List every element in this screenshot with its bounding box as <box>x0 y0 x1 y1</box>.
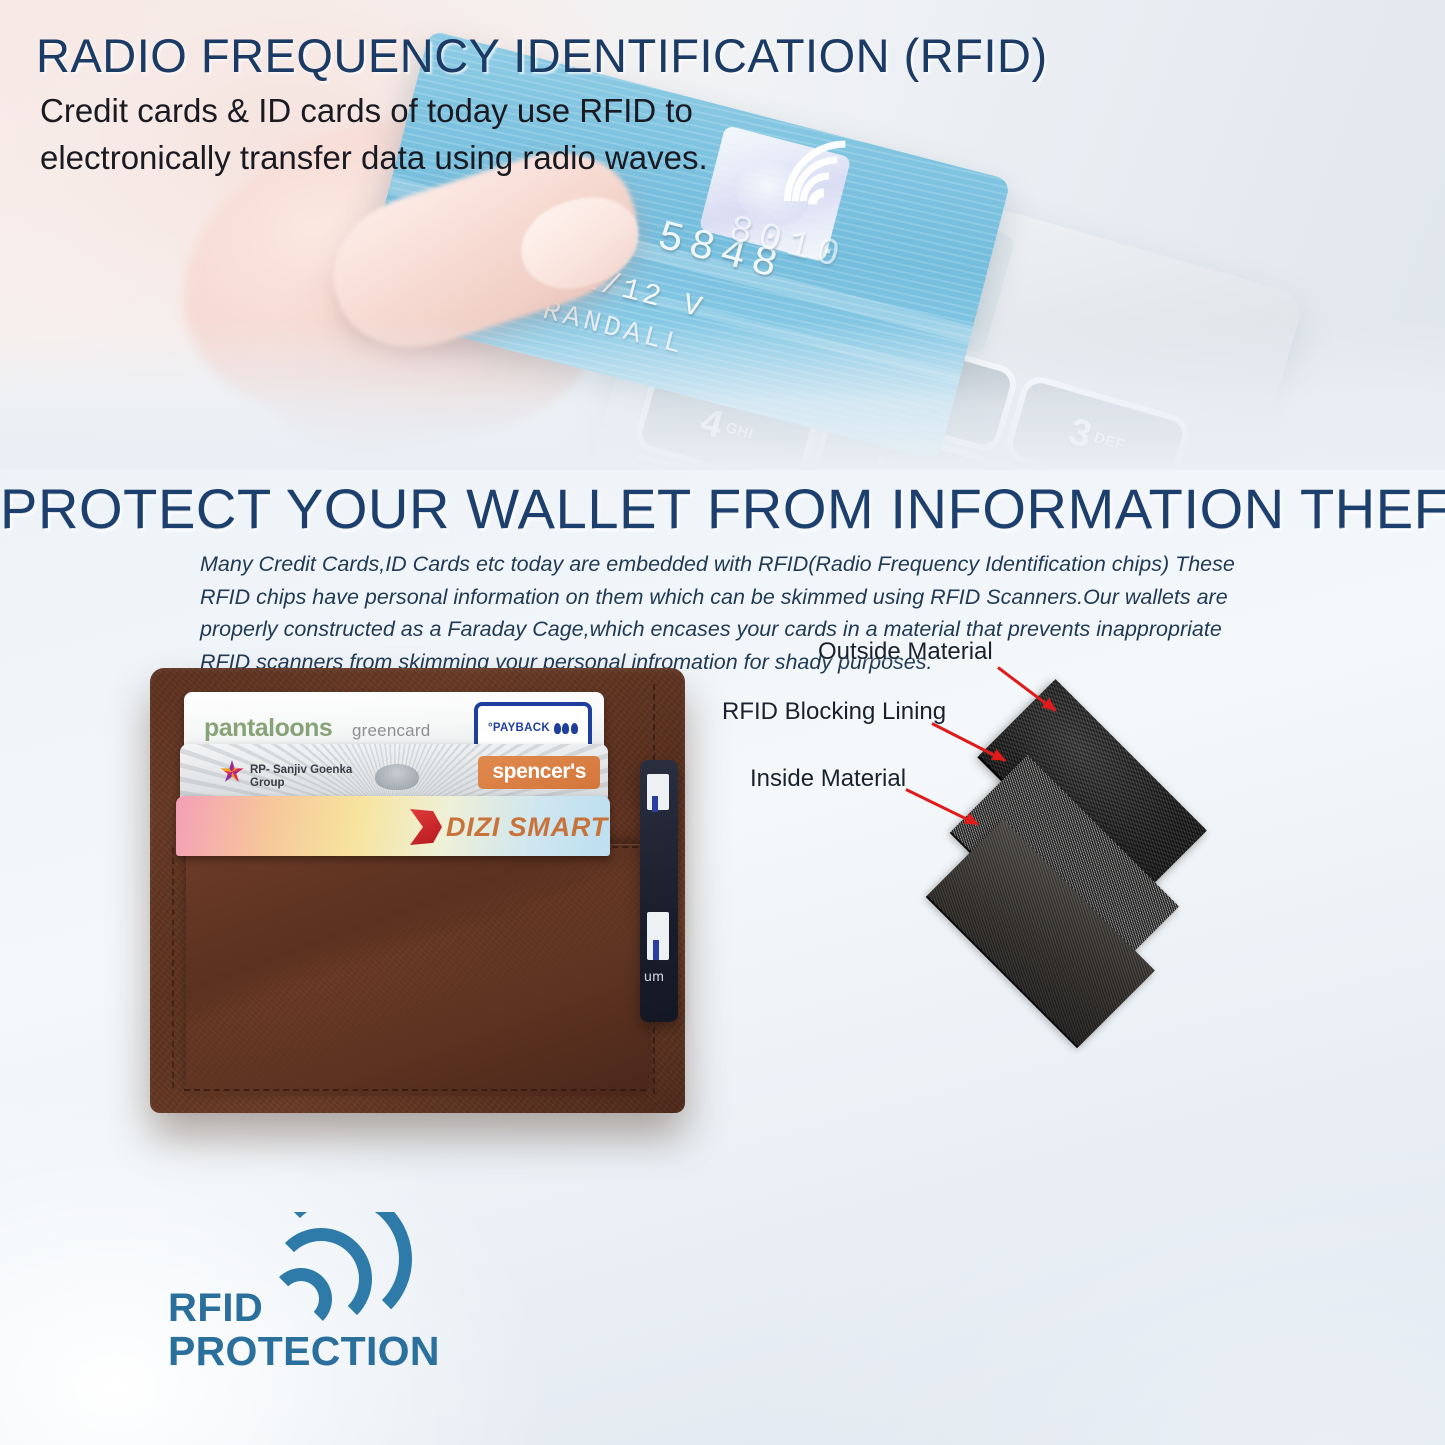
card-sub-label: greencard <box>352 721 430 741</box>
pos-key-letters: DEF <box>1092 431 1126 453</box>
wallet-card-dizi-smart: DIZI SMART <box>176 796 610 856</box>
edge-card-stripe-bottom <box>647 912 669 960</box>
page-subtitle-line-2: electronically transfer data using radio… <box>40 135 740 182</box>
label-outside-material: Outside Material <box>818 638 993 666</box>
pos-key-letters: GHI <box>724 421 755 442</box>
rpsg-star-icon <box>220 760 244 784</box>
pos-key-digit: 3 <box>1065 413 1096 455</box>
rfid-wave-icon <box>278 1212 428 1322</box>
pos-key: 2 ABC <box>837 330 1013 448</box>
payback-dots-icon <box>554 723 578 734</box>
pos-key-digit: 4 <box>696 403 727 445</box>
card-brand-line-1: RP- Sanjiv Goenka <box>250 764 352 777</box>
pos-key-digit: 5 <box>868 452 899 470</box>
edge-card-text: um <box>644 968 664 984</box>
label-rfid-blocking-lining: RFID Blocking Lining <box>722 698 946 726</box>
rfid-protection-logo: RFID PROTECTION <box>168 1212 468 1362</box>
pos-key-letters: QZ <box>752 333 777 353</box>
payback-badge: °PAYBACK <box>474 702 592 748</box>
wallet-stitching-left <box>172 848 174 1088</box>
pos-key: 3 DEF <box>1009 380 1185 470</box>
pos-key: 4 GHI <box>639 369 815 470</box>
card-brand-label: RP- Sanjiv Goenka Group <box>250 764 352 789</box>
section-heading: PROTECT YOUR WALLET FROM INFORMATION THE… <box>0 476 1445 541</box>
infographic-page: 1 QZ 2 ABC 3 DEF 4 GHI 5 JKL <box>0 0 1445 1445</box>
material-layers-diagram <box>930 700 1250 920</box>
spencers-label: spencer's <box>492 760 586 783</box>
wallet-edge-card: um <box>640 760 678 1022</box>
logo-line-2: PROTECTION <box>168 1328 440 1375</box>
pos-key: 5 JKL <box>812 419 988 470</box>
section-body-text: Many Credit Cards,ID Cards etc today are… <box>200 548 1275 679</box>
card-emblem <box>375 764 419 790</box>
payback-label: °PAYBACK <box>488 722 550 734</box>
pos-key-digit: 1 <box>725 315 756 357</box>
pos-key-digit: 2 <box>891 363 922 405</box>
page-title: RADIO FREQUENCY IDENTIFICATION (RFID) <box>36 28 1048 83</box>
edge-card-stripe-top <box>647 774 669 810</box>
wallet-card-pantaloons: pantaloons greencard °PAYBACK <box>184 692 604 748</box>
card-brand-line-2: Group <box>250 777 352 790</box>
pos-key: 6 MNO <box>984 468 1160 470</box>
wallet-front-pocket <box>186 844 648 1096</box>
card-brand-label: pantaloons <box>204 714 332 743</box>
card-brand-label: DIZI SMART <box>446 812 608 843</box>
spencers-badge: spencer's <box>478 756 600 789</box>
page-subtitle-line-1: Credit cards & ID cards of today use RFI… <box>40 88 740 135</box>
page-subtitle: Credit cards & ID cards of today use RFI… <box>40 88 740 182</box>
wallet-card-spencers: RP- Sanjiv Goenka Group spencer's <box>180 744 608 800</box>
logo-line-1: RFID <box>168 1286 263 1331</box>
label-inside-material: Inside Material <box>750 765 906 793</box>
wallet-stitching-bottom <box>184 1089 646 1091</box>
pos-key: 7 PRS <box>614 458 790 470</box>
pos-key-letters: ABC <box>919 381 956 404</box>
dizi-arrow-icon <box>408 809 442 845</box>
